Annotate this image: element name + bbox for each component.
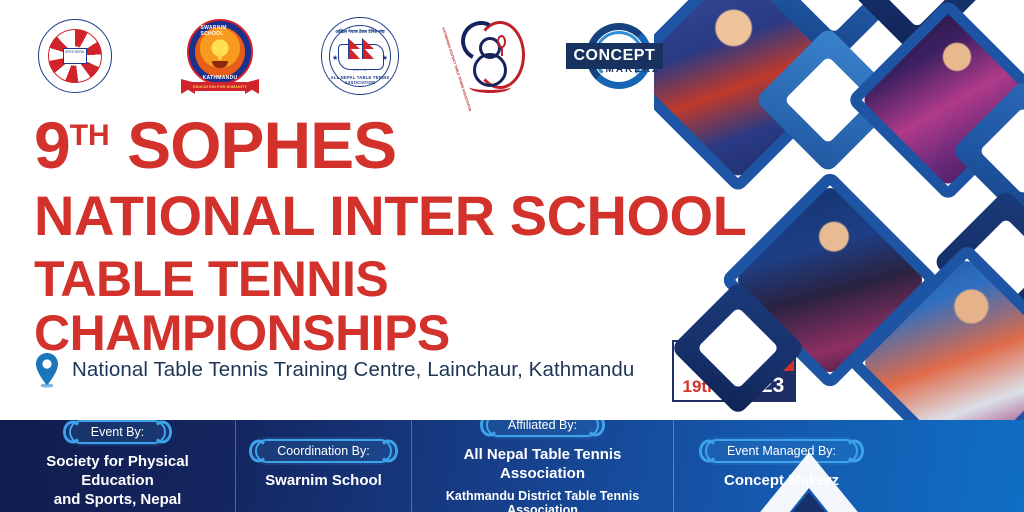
concept-makerz-sub: MAKERZ (606, 64, 661, 75)
footer-pill-affiliated-by: Affiliated By: (486, 420, 599, 437)
footer-value-coordination-by: Swarnim School (265, 472, 382, 491)
antta-ring-bottom: ALL NEPAL TABLE TENNIS ASSOCIATION (322, 75, 398, 85)
footer-col-event-by: Event By: Society for Physical Education… (0, 420, 236, 512)
logo-slot-spes: SPES NEPAL (0, 10, 150, 102)
logo-slot-antta: अखिल नेपाल टेबल टेनिस संघ ★ ★ A.N.T.T.A.… (290, 10, 430, 102)
swarnim-school-kathmandu-logo: SWARNIM SCHOOL KATHMANDU EDUCATION FOR H… (181, 17, 259, 95)
edition-number: 9 (34, 108, 70, 182)
venue-row: National Table Tennis Training Centre, L… (34, 352, 634, 388)
logo-slot-kdtta: KATHMANDU DISTRICT TABLE TENNIS ASSOCIAT… (430, 10, 555, 102)
location-pin-icon (34, 352, 60, 388)
edition-suffix: TH (70, 119, 110, 152)
event-brand: SOPHES (127, 108, 396, 182)
all-nepal-table-tennis-association-logo: अखिल नेपाल टेबल टेनिस संघ ★ ★ A.N.T.T.A.… (321, 17, 399, 95)
footer-chevron-decor (709, 420, 899, 512)
society-for-physical-education-and-sports-nepal-logo: SPES NEPAL (38, 19, 112, 93)
antta-ring-top: अखिल नेपाल टेबल टेनिस संघ (322, 29, 398, 35)
star-icon-left: ★ (332, 54, 338, 62)
venue-text: National Table Tennis Training Centre, L… (72, 358, 634, 382)
footer-col-affiliated-by: Affiliated By: All Nepal Table Tennis As… (412, 420, 674, 512)
star-icon-right: ★ (382, 54, 388, 62)
antta-abbrev: A.N.T.T.A. (322, 68, 398, 72)
event-banner: SPES NEPAL SWARNIM SCHOOL KATHMANDU EDUC… (0, 0, 1024, 512)
footer-pill-event-by: Event By: (69, 420, 167, 444)
spes-center-text: SPES NEPAL (63, 48, 87, 64)
sponsor-logo-row: SPES NEPAL SWARNIM SCHOOL KATHMANDU EDUC… (0, 8, 680, 104)
footer-subvalue-affiliated-by: Kathmandu District Table Tennis Associat… (422, 489, 663, 512)
table-tennis-racket-icon (497, 35, 506, 48)
logo-slot-swarnim: SWARNIM SCHOOL KATHMANDU EDUCATION FOR H… (150, 10, 290, 102)
footer-pill-coordination-by: Coordination By: (255, 439, 391, 463)
footer-credits-bar: Event By: Society for Physical Education… (0, 420, 1024, 512)
footer-value-affiliated-by: All Nepal Table Tennis Association (422, 446, 663, 484)
swarnim-ribbon-motto: EDUCATION FOR HUMANITY (191, 82, 249, 91)
kathmandu-district-table-tennis-association-logo: KATHMANDU DISTRICT TABLE TENNIS ASSOCIAT… (455, 15, 531, 97)
footer-col-coordination-by: Coordination By: Swarnim School (236, 420, 412, 512)
oil-lamp-icon (210, 57, 230, 69)
photo-collage (654, 0, 1024, 470)
footer-value-event-by: Society for Physical Education and Sport… (10, 453, 225, 509)
footer-col-event-managed-by: Event Managed By: Concept Makerz (674, 420, 889, 512)
swarnim-arc-top: SWARNIM SCHOOL (201, 25, 240, 37)
